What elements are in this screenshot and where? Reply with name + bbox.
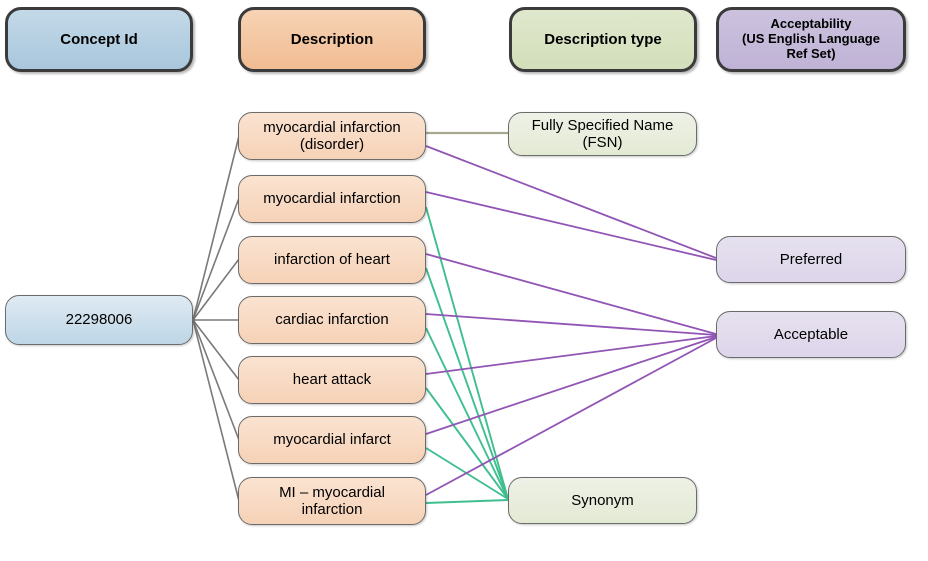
column-header-acceptability: Acceptability (US English Language Ref S… (716, 7, 906, 72)
description-node-d4[interactable]: cardiac infarction (238, 296, 426, 344)
concept-node-label: 22298006 (58, 311, 141, 328)
acceptability-node-preferred[interactable]: Preferred (716, 236, 906, 283)
description-node-d1-line1: myocardial infarction (263, 119, 401, 136)
edge-d7-synonym (426, 500, 508, 503)
edge-concept-d1 (193, 136, 239, 320)
column-header-acceptability-line1: Acceptability (771, 16, 852, 31)
description-to-synonym-edges (426, 207, 508, 503)
acceptability-node-acceptable-label: Acceptable (766, 326, 856, 343)
edge-d5-synonym (426, 388, 508, 499)
edge-d5-acceptable (426, 336, 716, 374)
description-node-d5-line1: heart attack (285, 371, 379, 388)
acceptability-node-acceptable[interactable]: Acceptable (716, 311, 906, 358)
diagram-canvas: Concept Id Description Description type … (0, 0, 928, 561)
column-header-description-type: Description type (509, 7, 697, 72)
column-header-description: Description (238, 7, 426, 72)
description-node-d7-line1: MI – myocardial (279, 484, 385, 501)
description-node-d7[interactable]: MI – myocardial infarction (238, 477, 426, 525)
column-header-acceptability-line3: Ref Set) (786, 46, 835, 61)
description-node-d3[interactable]: infarction of heart (238, 236, 426, 284)
column-header-description-type-label: Description type (536, 31, 670, 48)
edge-concept-d2 (193, 198, 239, 320)
edge-concept-d6 (193, 320, 239, 440)
description-type-node-fsn-line2: (FSN) (582, 134, 622, 151)
description-node-d2[interactable]: myocardial infarction (238, 175, 426, 223)
edge-d3-synonym (426, 268, 508, 499)
acceptability-node-preferred-label: Preferred (772, 251, 851, 268)
column-header-acceptability-line2: (US English Language (742, 31, 880, 46)
description-type-node-synonym-label: Synonym (563, 492, 642, 509)
description-type-node-synonym[interactable]: Synonym (508, 477, 697, 524)
description-node-d1-line2: (disorder) (300, 136, 364, 153)
edge-d4-acceptable (426, 314, 716, 335)
edge-d6-acceptable (426, 337, 716, 434)
description-to-acceptability-edges (426, 146, 716, 495)
description-node-d5[interactable]: heart attack (238, 356, 426, 404)
edge-d3-acceptable (426, 254, 716, 334)
concept-to-description-edges (193, 136, 239, 501)
edge-concept-d7 (193, 320, 239, 501)
description-node-d7-line2: infarction (302, 501, 363, 518)
concept-node-22298006[interactable]: 22298006 (5, 295, 193, 345)
description-node-d6-line1: myocardial infarct (265, 431, 399, 448)
description-type-node-fsn[interactable]: Fully Specified Name (FSN) (508, 112, 697, 156)
description-type-node-fsn-line1: Fully Specified Name (532, 117, 674, 134)
description-node-d1[interactable]: myocardial infarction (disorder) (238, 112, 426, 160)
description-node-d6[interactable]: myocardial infarct (238, 416, 426, 464)
description-node-d4-line1: cardiac infarction (267, 311, 396, 328)
column-header-concept-id: Concept Id (5, 7, 193, 72)
description-node-d3-line1: infarction of heart (266, 251, 398, 268)
description-node-d2-line1: myocardial infarction (255, 190, 409, 207)
column-header-description-label: Description (283, 31, 382, 48)
column-header-concept-id-label: Concept Id (52, 31, 146, 48)
